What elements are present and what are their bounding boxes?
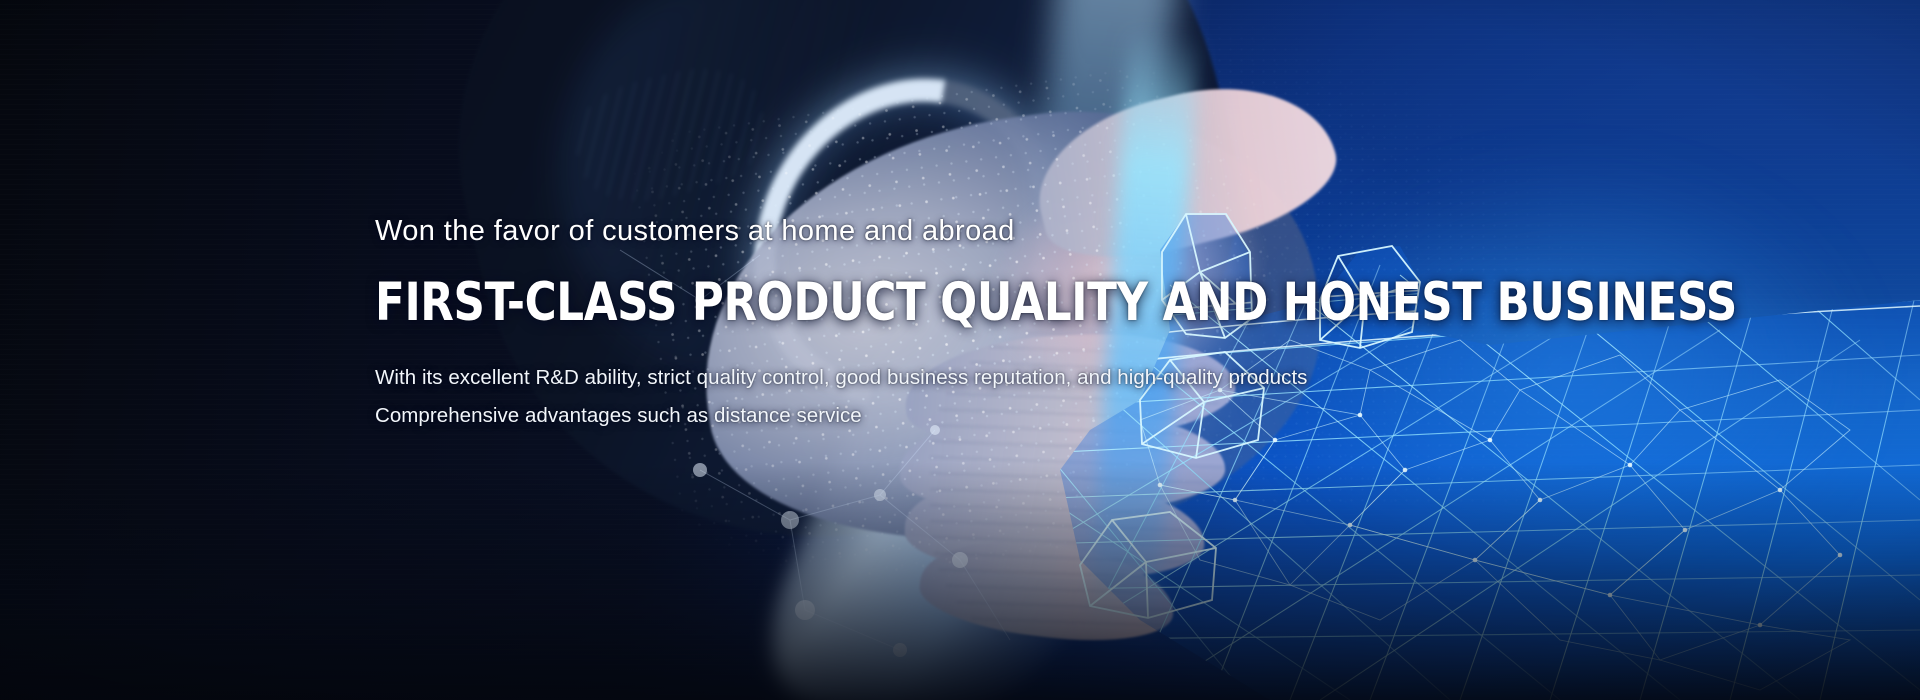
- hero-subtext-line-1: With its excellent R&D ability, strict q…: [375, 359, 1435, 397]
- hero-eyebrow: Won the favor of customers at home and a…: [375, 216, 1435, 248]
- hero-banner: Won the favor of customers at home and a…: [0, 0, 1920, 700]
- hero-headline: FIRST-CLASS PRODUCT QUALITY AND HONEST B…: [375, 276, 1345, 329]
- hero-copy: Won the favor of customers at home and a…: [375, 216, 1435, 435]
- hero-subtext-line-2: Comprehensive advantages such as distanc…: [375, 397, 1435, 435]
